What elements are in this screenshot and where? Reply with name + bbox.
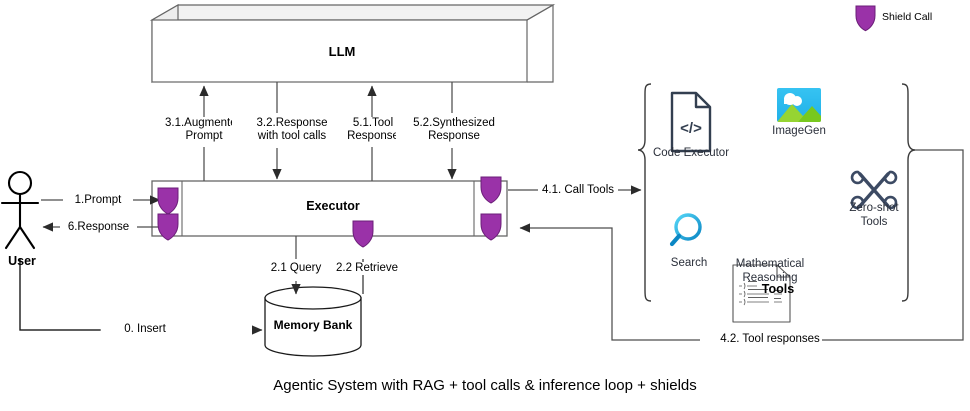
code-document-icon: </> [672, 93, 710, 151]
user-actor [2, 172, 38, 248]
edge-label-query: 2.1 Query [265, 262, 327, 275]
edge-label-insert: 0. Insert [101, 323, 189, 336]
diagram-canvas: </> [0, 0, 970, 411]
edge-label-tool-responses: 4.2. Tool responses [718, 333, 822, 346]
diagram-caption: Agentic System with RAG + tool calls & i… [0, 377, 970, 394]
tool-label-zero-shot: Zero-shot Tools [838, 202, 910, 229]
edge-label-synthesized: 5.2.Synthesized Response [396, 117, 512, 143]
tool-label-search: Search [658, 257, 720, 271]
tool-label-imagegen: ImageGen [759, 125, 839, 139]
llm-label: LLM [302, 45, 382, 58]
tools-group-brace-right [902, 84, 915, 301]
tools-group-brace-left [638, 84, 651, 301]
legend-label: Shield Call [882, 11, 932, 23]
user-label: User [0, 255, 44, 268]
edge-label-prompt: 1.Prompt [63, 194, 133, 207]
executor-label: Executor [288, 200, 378, 213]
shield-icon [353, 221, 373, 247]
memory-bank-label: Memory Bank [263, 319, 363, 332]
connector-insert-line [20, 258, 100, 330]
svg-text:</>: </> [680, 120, 702, 137]
diagram-vector-layer: </> [0, 0, 970, 411]
magnifier-icon [672, 215, 700, 244]
edge-label-response: 6.Response [60, 221, 137, 234]
tool-label-code-executor: Code Executor [641, 147, 741, 161]
edge-label-retrieve: 2.2 Retrieve [331, 262, 403, 275]
tool-label-math-reasoning-2: Mathematical Reasoning [720, 258, 820, 285]
edge-label-call-tools: 4.1. Call Tools [538, 184, 618, 197]
legend-shield-icon [856, 6, 875, 31]
image-icon [777, 88, 821, 122]
